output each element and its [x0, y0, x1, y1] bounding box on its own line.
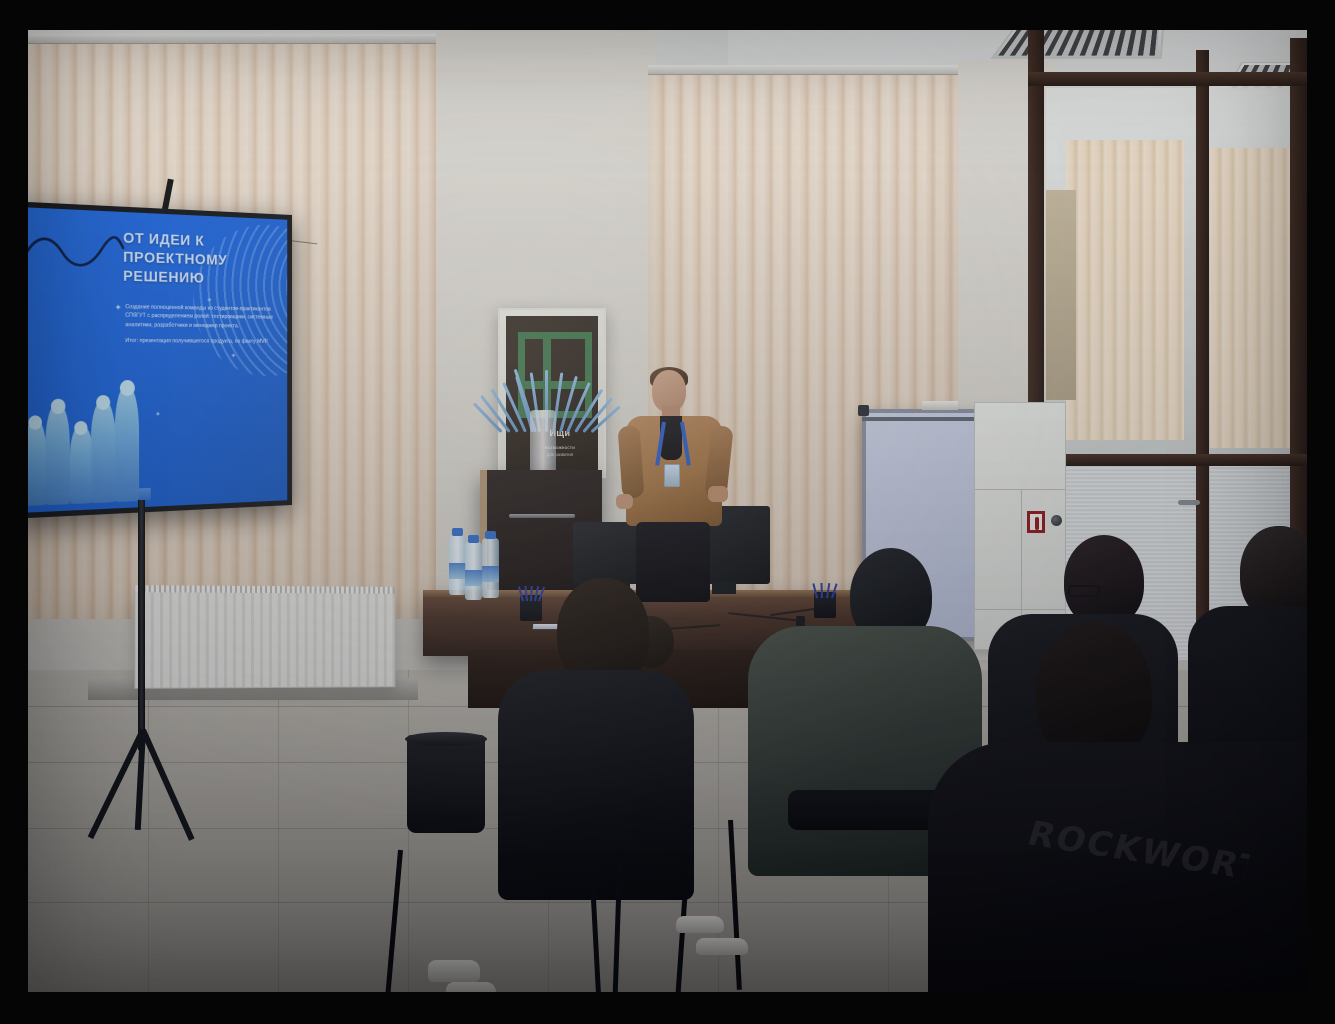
door-handle[interactable] [1178, 500, 1200, 505]
pen-cup[interactable] [814, 592, 836, 618]
photo-canvas: ОТ ИДЕИ К ПРОЕКТНОМУ РЕШЕНИЮ ✦ ✦ ✦ ✦ Соз… [0, 0, 1335, 1024]
slide-person [115, 387, 140, 502]
partition-vertical-blinds [1210, 148, 1298, 448]
screen-tripod-post [138, 500, 145, 750]
classroom-photograph: ОТ ИДЕИ К ПРОЕКТНОМУ РЕШЕНИЮ ✦ ✦ ✦ ✦ Соз… [28, 30, 1307, 992]
slide-paragraph: Создание полноценной команды из студенто… [125, 303, 279, 331]
eyeglasses-icon [1068, 585, 1100, 597]
partition-vertical-blinds [1066, 140, 1184, 440]
presenter-left-hand [616, 494, 633, 509]
presenter-person [610, 370, 748, 600]
presenter-trousers [636, 522, 710, 602]
bottle-cap [452, 528, 463, 536]
cabinet-handle[interactable] [509, 514, 575, 518]
slide-student-group-photo [28, 364, 140, 506]
audience-head [1036, 622, 1152, 762]
shoe [428, 960, 480, 982]
shoe [676, 916, 724, 933]
presenter-right-hand [708, 486, 728, 502]
poster-subline: для развития [514, 452, 598, 457]
slide-title: ОТ ИДЕИ К ПРОЕКТНОМУ РЕШЕНИЮ [123, 229, 287, 290]
bin-liner-rim [405, 732, 487, 746]
id-badge [664, 464, 680, 487]
bottle-cap [468, 535, 479, 543]
partition-transom [1028, 454, 1307, 466]
sparkle-icon: ✦ [230, 352, 236, 360]
fire-equipment-sign-icon [1027, 511, 1045, 533]
slide-person-head [120, 380, 135, 396]
flipchart-clip[interactable] [922, 401, 958, 410]
building-outside-window [1046, 190, 1076, 400]
panel-radiator [134, 591, 395, 689]
shoe [446, 982, 496, 992]
waste-bin [407, 735, 485, 833]
sparkle-icon: ✦ [206, 296, 212, 304]
water-bottle[interactable] [449, 535, 466, 595]
audience-body [498, 670, 694, 900]
presentation-slide: ОТ ИДЕИ К ПРОЕКТНОМУ РЕШЕНИЮ ✦ ✦ ✦ ✦ Соз… [28, 207, 287, 513]
cabinet-knob[interactable] [1051, 515, 1062, 526]
bottle-label [465, 570, 482, 586]
partition-mullion [1196, 50, 1209, 690]
slide-paragraph: Итог: презентация получившегося продукта… [125, 336, 279, 345]
bottle-cap [485, 531, 496, 539]
slide-person [28, 421, 46, 507]
slide-body: Создание полноценной команды из студенто… [125, 303, 279, 353]
slide-person [91, 401, 116, 503]
slide-person [45, 405, 70, 505]
partition-transom [1028, 72, 1307, 86]
poster-headline-2: возможности [514, 445, 598, 450]
projection-screen[interactable]: ОТ ИДЕИ К ПРОЕКТНОМУ РЕШЕНИЮ ✦ ✦ ✦ ✦ Соз… [28, 201, 292, 519]
water-bottle[interactable] [482, 538, 499, 598]
slide-bullet-icon: ✦ [115, 303, 122, 313]
bottle-label [482, 566, 499, 582]
shoe [696, 938, 748, 955]
sparkle-icon: ✦ [155, 410, 161, 418]
flipchart-corner [858, 405, 869, 416]
slide-person [70, 426, 93, 504]
fire-hose-cabinet[interactable] [974, 402, 1066, 650]
water-bottle[interactable] [465, 542, 482, 600]
pen-cup[interactable] [520, 595, 542, 621]
wave-decoration-icon [28, 231, 125, 269]
bottle-label [449, 563, 466, 579]
